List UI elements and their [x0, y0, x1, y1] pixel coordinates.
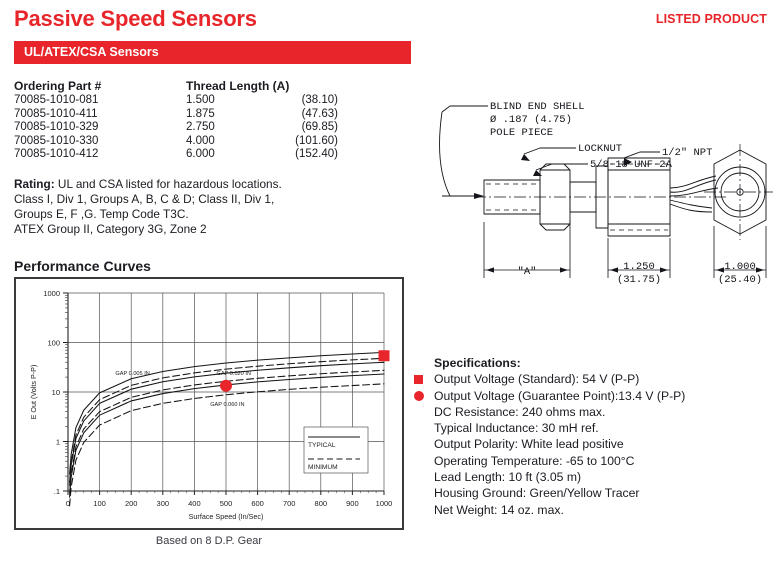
drawing-callout: POLE PIECE	[490, 127, 553, 139]
listed-product-badge: LISTED PRODUCT	[656, 12, 767, 26]
dimension-label: 1.250	[623, 261, 655, 273]
arrowhead-pole-piece	[474, 193, 484, 199]
cell-thread-mm: (47.63)	[260, 108, 338, 122]
ytick-label: 1000	[43, 289, 60, 298]
page-title: Passive Speed Sensors	[14, 6, 257, 32]
section-header-bar: UL/ATEX/CSA Sensors	[14, 41, 411, 64]
dimension-label: 1.000	[724, 261, 756, 273]
cell-thread-inches: 6.000	[186, 148, 260, 162]
section-header-label: UL/ATEX/CSA Sensors	[24, 45, 159, 59]
drawing-callout: BLIND END SHELL	[490, 101, 585, 113]
xtick-label: 800	[315, 499, 328, 508]
specification-text: Lead Length: 10 ft (3.05 m)	[434, 470, 581, 484]
cell-thread-mm: (69.85)	[260, 121, 338, 135]
rating-line-4: ATEX Group II, Category 3G, Zone 2	[14, 222, 354, 237]
table-row: 70085-1010-4126.000(152.40)	[14, 148, 344, 162]
specification-item: Output Polarity: White lead positive	[434, 436, 770, 452]
table-row: 70085-1010-4111.875(47.63)	[14, 108, 344, 122]
ytick-label: 1	[56, 438, 60, 447]
xtick-label: 100	[93, 499, 106, 508]
specifications-block: Specifications: Output Voltage (Standard…	[434, 355, 770, 518]
leader-blind-end-shell	[442, 106, 488, 112]
chart-caption: Based on 8 D.P. Gear	[14, 535, 404, 547]
specification-item: Operating Temperature: -65 to 100°C	[434, 453, 770, 469]
specification-text: Net Weight: 14 oz. max.	[434, 503, 564, 517]
specification-item: Housing Ground: Green/Yellow Tracer	[434, 485, 770, 501]
legend-label: TYPICAL	[308, 442, 336, 449]
arrowhead-thread	[533, 170, 542, 176]
performance-chart: .111010010000100200300400500600700800900…	[14, 277, 404, 530]
output-voltage-standard-marker	[414, 375, 423, 384]
xtick-label: 400	[188, 499, 201, 508]
rating-line-1: Rating: UL and CSA listed for hazardous …	[14, 177, 354, 192]
rating-line-2: Class I, Div 1, Groups A, B, C & D; Clas…	[14, 192, 354, 207]
curve-label: GAP 0.020 IN	[217, 371, 251, 377]
xtick-label: 200	[125, 499, 138, 508]
rating-block: Rating: UL and CSA listed for hazardous …	[14, 177, 354, 237]
drawing-callout: LOCKNUT	[578, 143, 622, 155]
cell-part-number: 70085-1010-081	[14, 94, 186, 108]
cell-thread-inches: 2.750	[186, 121, 260, 135]
ytick-label: 100	[47, 339, 60, 348]
table-row: 70085-1010-3304.000(101.60)	[14, 135, 344, 149]
ordering-table: Ordering Part # Thread Length (A) 70085-…	[14, 78, 344, 162]
drawing-callout: 5/8-18 UNF-2A	[590, 159, 673, 171]
dimension-metric: (25.40)	[718, 274, 762, 286]
specification-item: Output Voltage (Standard): 54 V (P-P)	[434, 371, 770, 387]
table-row: 70085-1010-3292.750(69.85)	[14, 121, 344, 135]
rating-label: Rating:	[14, 177, 55, 191]
ytick-label: 10	[52, 388, 60, 397]
leader-npt	[624, 152, 660, 158]
arrowhead-locknut	[521, 154, 530, 161]
curve-label: GAP 0.005 IN	[115, 371, 149, 377]
column-header-part: Ordering Part #	[14, 78, 186, 94]
cell-part-number: 70085-1010-412	[14, 148, 186, 162]
x-axis-title: Surface Speed (In/Sec)	[189, 512, 264, 521]
table-header-row: Ordering Part # Thread Length (A)	[14, 78, 344, 94]
legend-label: MINIMUM	[308, 464, 338, 471]
output-voltage-guarantee-marker	[414, 391, 424, 401]
rating-text-1: UL and CSA listed for hazardous location…	[58, 177, 282, 191]
y-axis-title: E Out (Volts P-P)	[29, 365, 38, 420]
specification-text: Operating Temperature: -65 to 100°C	[434, 454, 634, 468]
cell-thread-inches: 4.000	[186, 135, 260, 149]
ytick-label: .1	[54, 487, 60, 496]
blind-end-shell-body	[484, 180, 540, 214]
specification-text: Typical Inductance: 30 mH ref.	[434, 421, 599, 435]
sensor-engineering-drawing: BLIND END SHELLØ .187 (4.75)POLE PIECELO…	[428, 92, 773, 302]
specification-item: DC Resistance: 240 ohms max.	[434, 404, 770, 420]
lead-wires	[670, 176, 718, 212]
chart-marker-standard	[379, 350, 390, 361]
specification-item: Typical Inductance: 30 mH ref.	[434, 420, 770, 436]
xtick-label: 300	[157, 499, 170, 508]
cell-part-number: 70085-1010-411	[14, 108, 186, 122]
leader-locknut	[524, 148, 576, 154]
cell-thread-mm: (38.10)	[260, 94, 338, 108]
drawing-callout: 1/2" NPT	[662, 147, 712, 159]
specification-text: Output Voltage (Standard): 54 V (P-P)	[434, 372, 639, 386]
cell-thread-inches: 1.875	[186, 108, 260, 122]
curve-label: GAP 0.060 IN	[210, 402, 244, 408]
chart-legend: TYPICALMINIMUM	[304, 427, 368, 473]
specification-item: Output Voltage (Guarantee Point):13.4 V …	[434, 388, 770, 404]
table-row: 70085-1010-0811.500(38.10)	[14, 94, 344, 108]
xtick-label: 500	[220, 499, 233, 508]
chart-annotations: GAP 0.005 INGAP 0.020 INGAP 0.060 IN	[115, 371, 251, 408]
chart-ticks: .111010010000100200300400500600700800900…	[43, 289, 392, 508]
leader-thread	[536, 164, 588, 170]
specifications-title: Specifications:	[434, 355, 770, 371]
cell-thread-inches: 1.500	[186, 94, 260, 108]
xtick-label: 1000	[376, 499, 393, 508]
dimension-label: "A"	[518, 266, 537, 278]
leader-blind-end-curve	[440, 112, 450, 196]
cell-part-number: 70085-1010-329	[14, 121, 186, 135]
xtick-label: 700	[283, 499, 296, 508]
cell-thread-mm: (101.60)	[260, 135, 338, 149]
specification-text: Output Polarity: White lead positive	[434, 437, 624, 451]
specification-item: Lead Length: 10 ft (3.05 m)	[434, 469, 770, 485]
cell-thread-mm: (152.40)	[260, 148, 338, 162]
xtick-label: 600	[251, 499, 264, 508]
cell-part-number: 70085-1010-330	[14, 135, 186, 149]
xtick-label: 900	[346, 499, 359, 508]
specification-text: DC Resistance: 240 ohms max.	[434, 405, 605, 419]
specification-text: Housing Ground: Green/Yellow Tracer	[434, 486, 640, 500]
column-header-thread-length: Thread Length (A)	[186, 78, 338, 94]
performance-chart-svg: .111010010000100200300400500600700800900…	[16, 279, 402, 528]
drawing-callout: Ø .187 (4.75)	[490, 114, 572, 126]
specification-text: Output Voltage (Guarantee Point):13.4 V …	[434, 389, 685, 403]
specification-item: Net Weight: 14 oz. max.	[434, 502, 770, 518]
performance-curves-heading: Performance Curves	[14, 258, 151, 274]
dimension-metric: (31.75)	[617, 274, 661, 286]
rating-line-3: Groups E, F ,G. Temp Code T3C.	[14, 207, 354, 222]
chart-marker-guarantee	[220, 380, 232, 392]
